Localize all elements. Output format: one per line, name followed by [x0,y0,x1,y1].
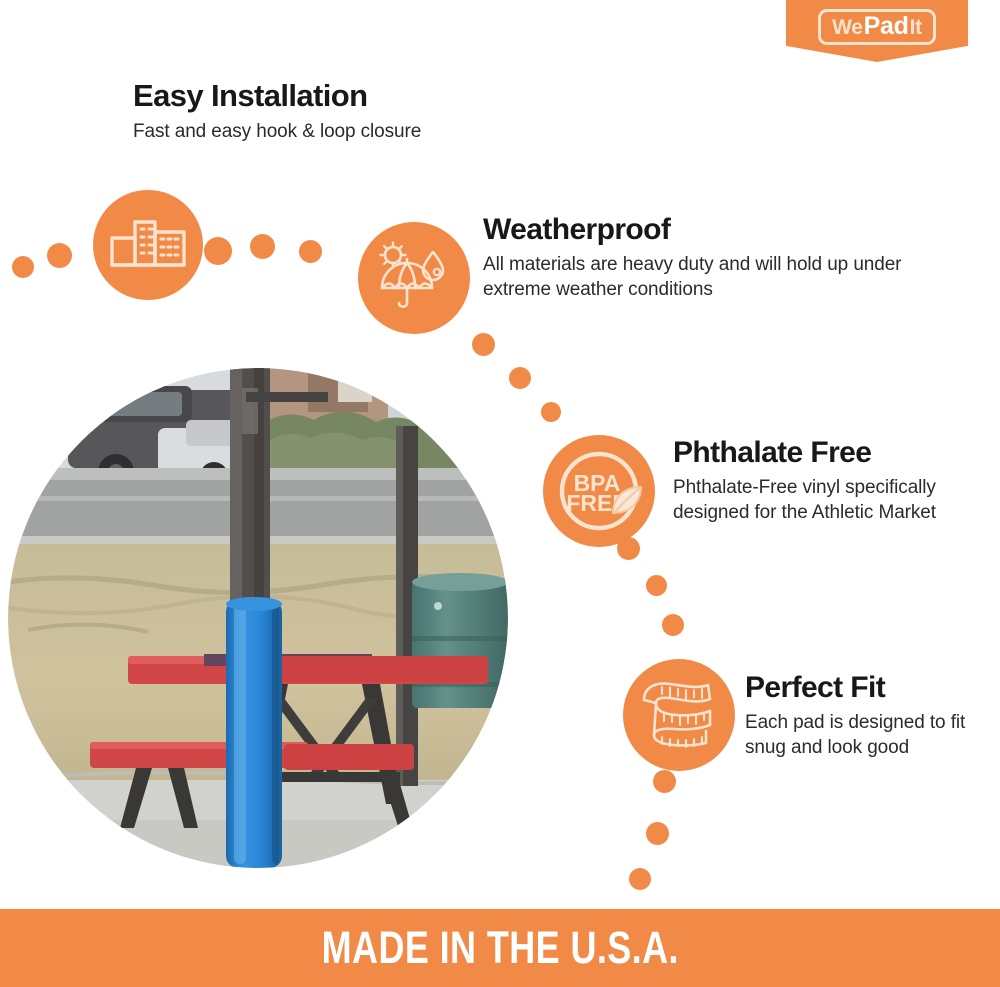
connector-dot [646,575,667,596]
connector-dot [250,234,275,259]
infographic-canvas: We Pad It Easy Installation Fast and eas… [0,0,1000,987]
feature-weatherproof: Weatherproof All materials are heavy dut… [483,214,903,302]
umbrella-sun-raindrop-icon [358,222,470,334]
brand-text-we: We [832,17,863,38]
brand-logo-frame: We Pad It [818,9,936,45]
feature-phthalate-free: Phthalate Free Phthalate-Free vinyl spec… [673,437,973,525]
brand-text-pad: Pad [864,14,909,39]
connector-dot [299,240,322,263]
feature-title: Easy Installation [133,80,563,113]
connector-dot [629,868,651,890]
brand-text-it: It [910,17,922,38]
connector-dot [12,256,34,278]
feature-body: Each pad is designed to fit snug and loo… [745,710,985,761]
feature-title: Perfect Fit [745,672,985,704]
made-in-usa-text: MADE IN THE U.S.A. [321,922,678,974]
feature-easy-installation: Easy Installation Fast and easy hook & l… [133,80,563,144]
connector-dot [653,770,676,793]
measuring-tape-icon [623,659,735,771]
feature-title: Weatherproof [483,214,903,246]
connector-dot [646,822,669,845]
made-in-usa-banner: MADE IN THE U.S.A. [0,909,1000,987]
buildings-icon [93,190,203,300]
brand-logo-ribbon: We Pad It [786,0,968,62]
feature-perfect-fit: Perfect Fit Each pad is designed to fit … [745,672,985,760]
connector-dot [541,402,561,422]
feature-body: Phthalate-Free vinyl specifically design… [673,475,973,526]
connector-dot [47,243,72,268]
connector-dot [204,237,232,265]
product-photo [8,368,508,868]
feature-body: Fast and easy hook & loop closure [133,119,563,144]
connector-dot [509,367,531,389]
connector-dot [472,333,495,356]
feature-title: Phthalate Free [673,437,973,469]
connector-dot [662,614,684,636]
feature-body: All materials are heavy duty and will ho… [483,252,903,303]
bpa-free-leaf-icon: BPA FREE [543,435,655,547]
